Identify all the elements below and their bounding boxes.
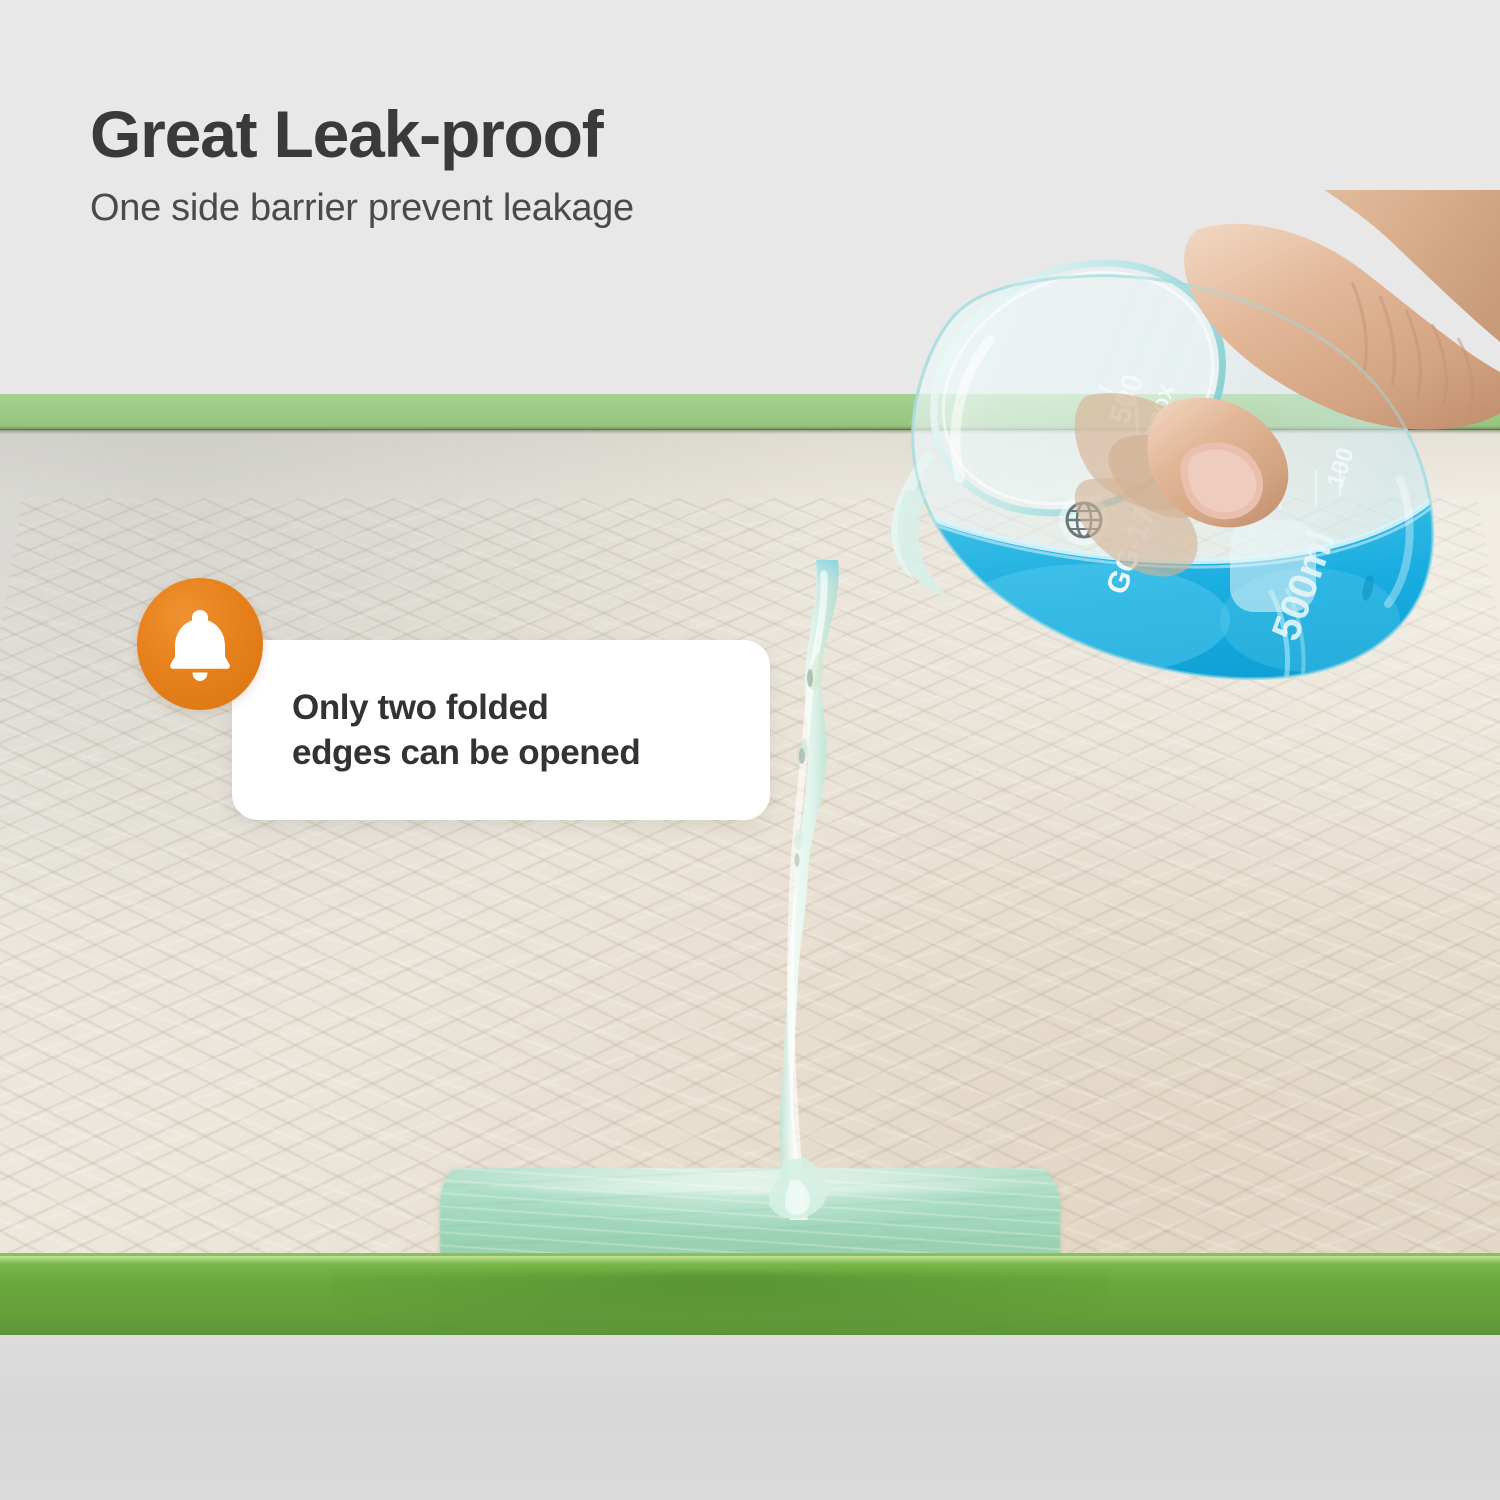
callout-text: Only two folded edges can be opened: [232, 685, 640, 776]
page-subtitle: One side barrier prevent leakage: [90, 187, 1090, 230]
pad-barrier-near-wet-shading: [330, 1272, 1110, 1334]
product-feature-image: 500 APPROX 300 200 100 GG-17 500ml: [0, 0, 1500, 1500]
pad-barrier-near-highlight: [0, 1256, 1500, 1264]
callout-badge: [137, 578, 263, 710]
header-block: Great Leak-proof One side barrier preven…: [90, 100, 1090, 230]
beaker-with-hand: 500 APPROX 300 200 100 GG-17 500ml: [840, 190, 1500, 760]
background-floor: [0, 1335, 1500, 1500]
callout-card: Only two folded edges can be opened: [232, 640, 770, 820]
spill-pool-edge-highlight: [434, 1164, 1066, 1194]
page-title: Great Leak-proof: [90, 100, 1090, 169]
bell-icon: [163, 604, 237, 684]
beaker-frosted-patch: [1230, 520, 1316, 612]
spill-pool: [440, 1168, 1060, 1264]
